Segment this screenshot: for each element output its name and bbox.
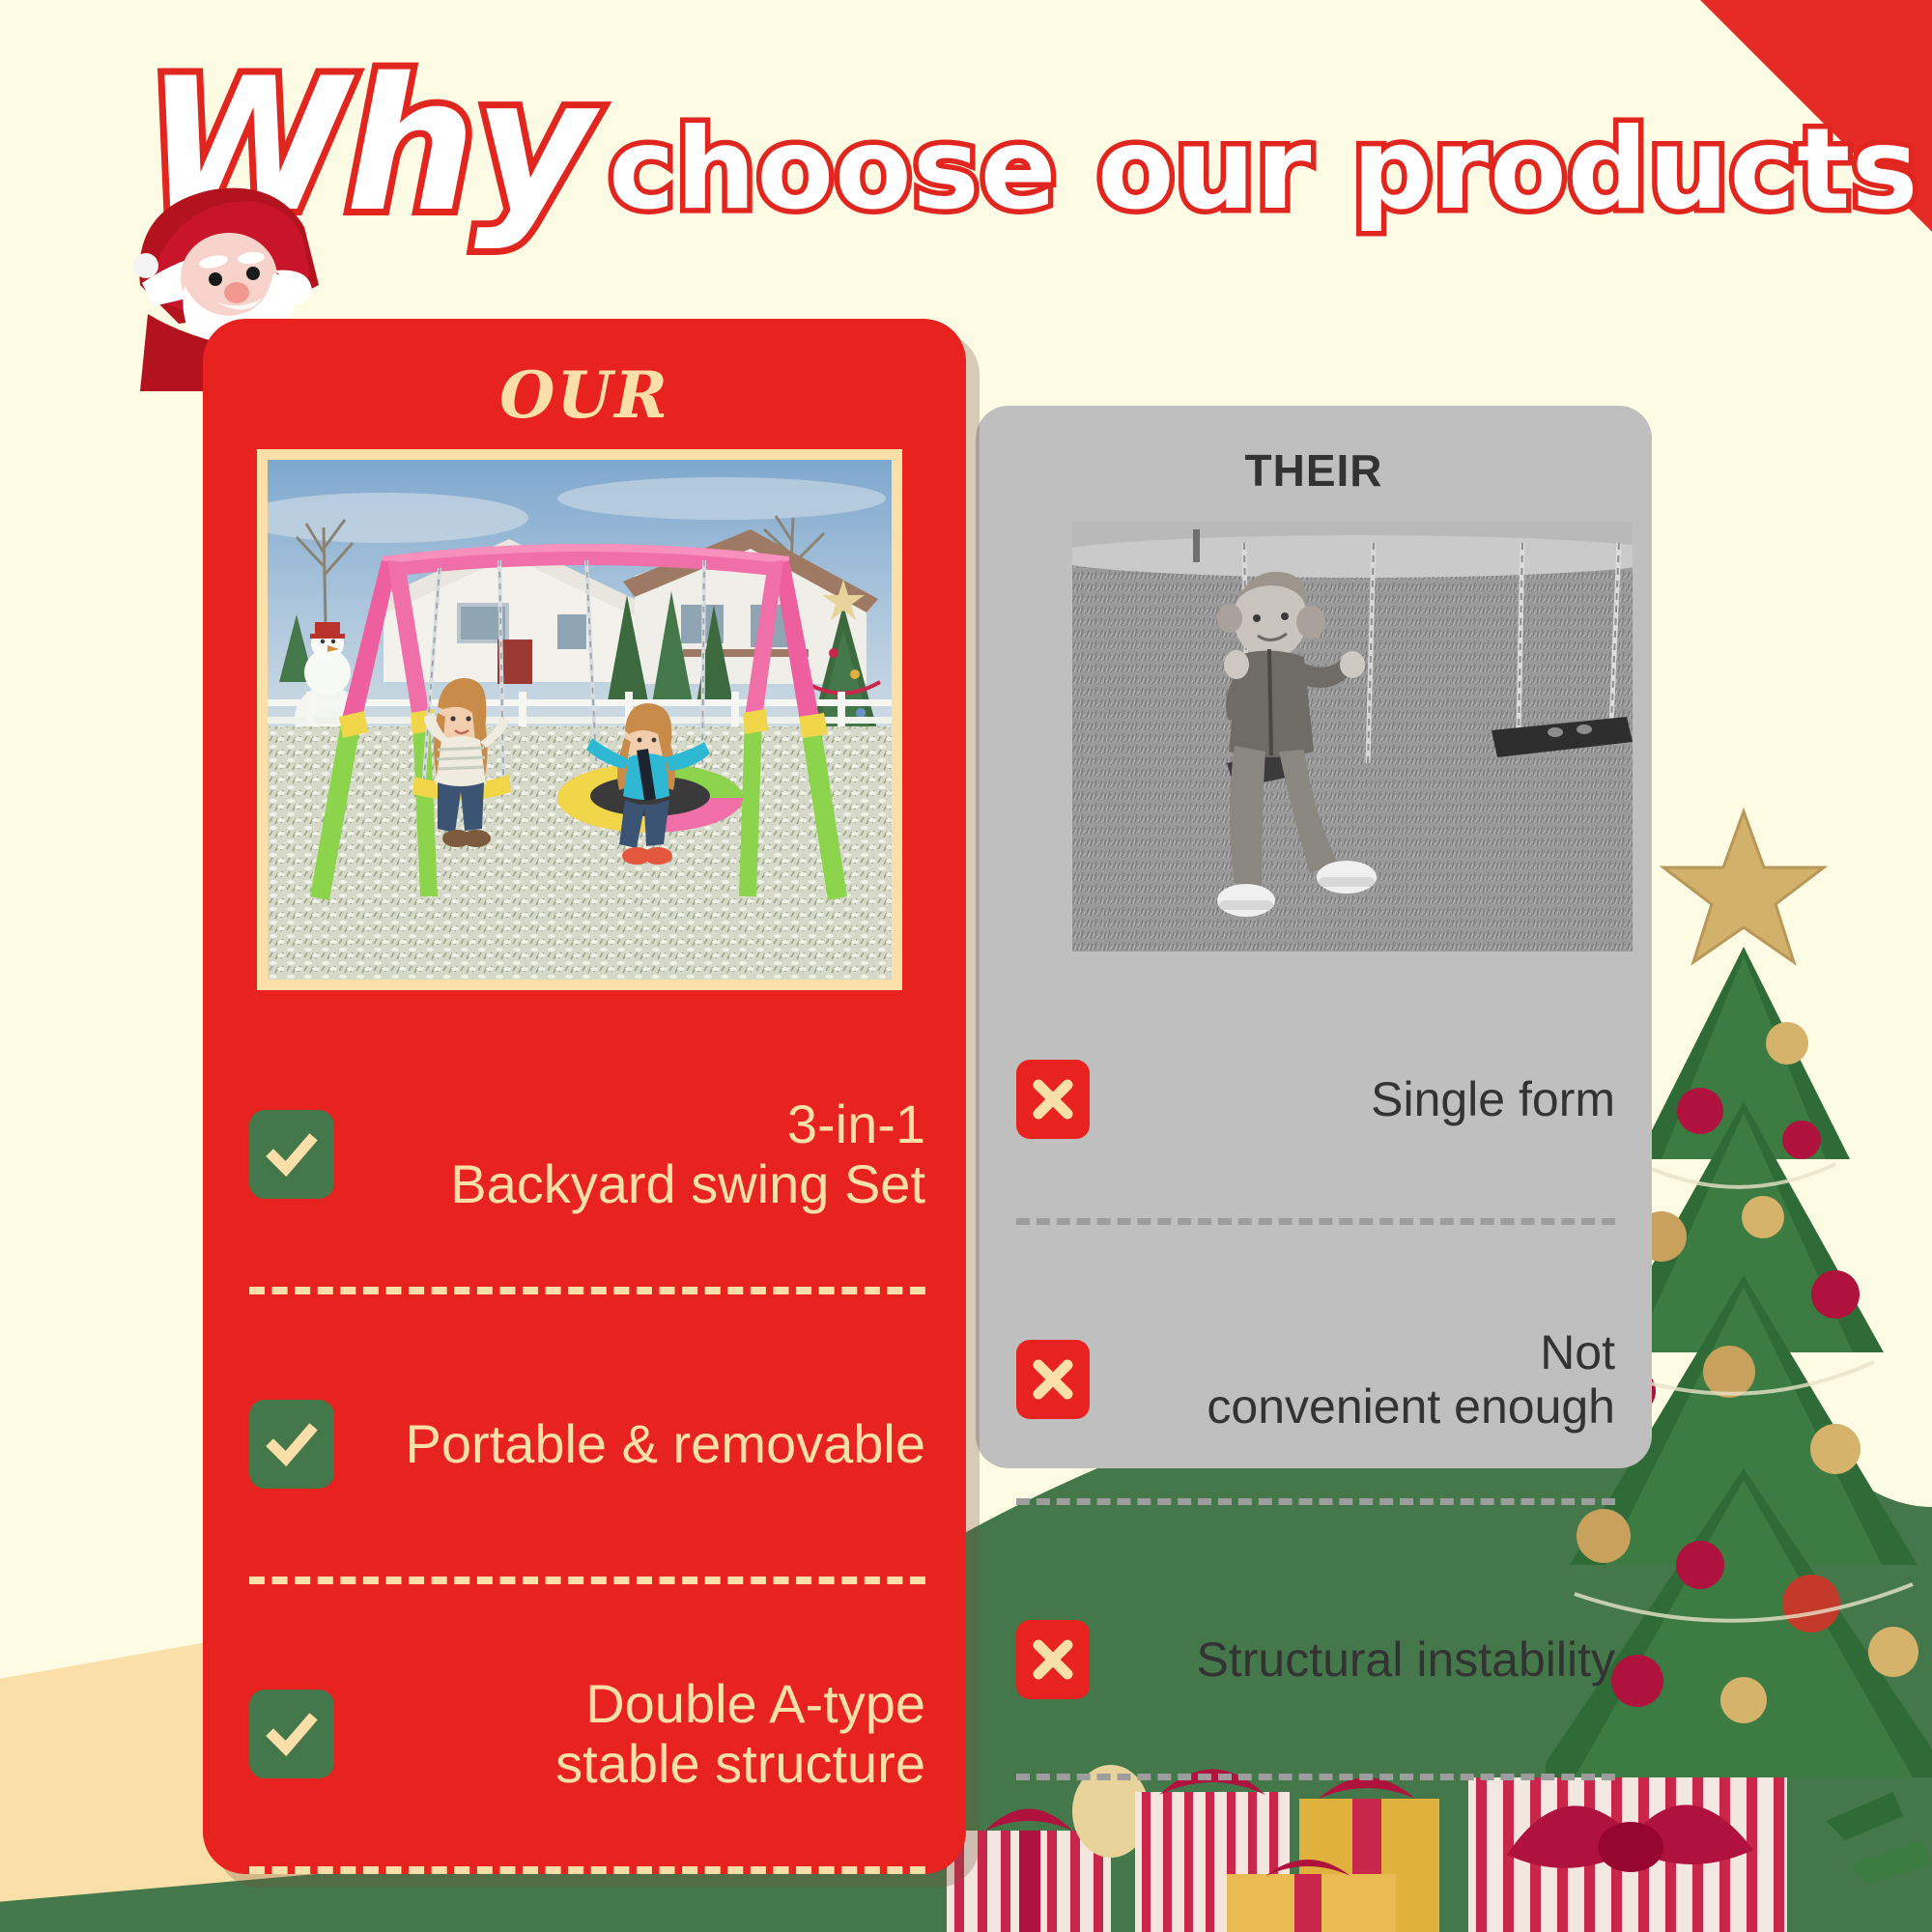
divider bbox=[1016, 1218, 1615, 1225]
list-item-label: 3-in-1 Backyard swing Set bbox=[334, 1094, 925, 1213]
text-line: 3-in-1 bbox=[354, 1094, 925, 1154]
their-drawback-list: Single form Not convenient enough bbox=[1016, 995, 1615, 1831]
text-line: stable structure bbox=[354, 1734, 925, 1794]
text-line: Single form bbox=[1371, 1072, 1615, 1126]
cross-icon bbox=[1016, 1620, 1090, 1699]
their-panel: THEIR bbox=[976, 406, 1652, 1468]
cross-icon bbox=[1016, 1340, 1090, 1419]
list-item: Structural instability bbox=[1016, 1555, 1615, 1831]
their-label: THEIR bbox=[976, 444, 1652, 497]
list-item-label: Not convenient enough bbox=[1090, 1325, 1615, 1434]
cross-icon bbox=[1016, 1060, 1090, 1139]
divider bbox=[249, 1866, 925, 1874]
text-line: Structural instability bbox=[1197, 1633, 1616, 1687]
list-item: 3-in-1 Backyard swing Set bbox=[249, 1063, 925, 1352]
our-panel: OUR bbox=[203, 319, 966, 1874]
list-item-label: Structural instability bbox=[1090, 1633, 1615, 1687]
promo-comparison-graphic: Why choose our products ? bbox=[0, 0, 1932, 1932]
check-icon bbox=[249, 1400, 334, 1489]
list-item-label: Single form bbox=[1090, 1072, 1615, 1126]
title-rest: choose our products ? bbox=[609, 104, 1932, 235]
list-item: Portable & removable bbox=[249, 1352, 925, 1642]
text-line: Portable & removable bbox=[405, 1413, 925, 1474]
check-icon bbox=[249, 1690, 334, 1778]
our-feature-list: 3-in-1 Backyard swing Set Portable & rem… bbox=[249, 1063, 925, 1932]
list-item-label: Double A-type stable structure bbox=[334, 1674, 925, 1793]
text-line: Backyard swing Set bbox=[354, 1154, 925, 1214]
text-line: Double A-type bbox=[354, 1674, 925, 1734]
list-item-label: Portable & removable bbox=[334, 1414, 925, 1474]
divider bbox=[1016, 1498, 1615, 1505]
divider bbox=[249, 1577, 925, 1584]
text-line: convenient enough bbox=[1111, 1379, 1615, 1434]
text-line: Not bbox=[1111, 1325, 1615, 1379]
list-item: Single form bbox=[1016, 995, 1615, 1275]
our-label: OUR bbox=[203, 357, 966, 433]
our-product-photo bbox=[257, 449, 902, 990]
check-icon bbox=[249, 1110, 334, 1199]
list-item: Double A-type stable structure bbox=[249, 1642, 925, 1932]
their-product-photo bbox=[1072, 522, 1633, 952]
divider bbox=[1016, 1774, 1615, 1780]
divider bbox=[249, 1287, 925, 1294]
list-item: Not convenient enough bbox=[1016, 1275, 1615, 1555]
